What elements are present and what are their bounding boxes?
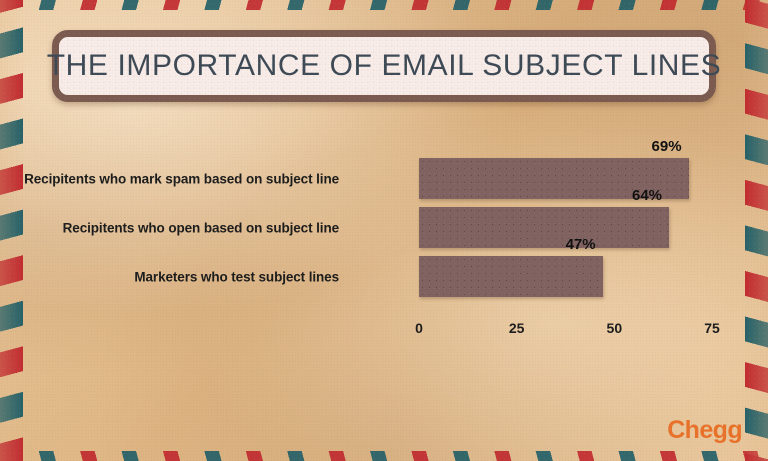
x-axis-tick: 50	[607, 320, 623, 336]
page-title: THE IMPORTANCE OF EMAIL SUBJECT LINES	[47, 49, 722, 83]
bar-value-label: 64%	[632, 187, 662, 204]
bar-category-label: Recipitents who open based on subject li…	[63, 221, 349, 236]
bar-wrapper: 47%	[419, 256, 603, 297]
airmail-stripe-bottom	[0, 451, 768, 461]
airmail-stripe-top	[0, 0, 768, 10]
x-axis-tick: 75	[704, 320, 720, 336]
x-axis: 0255075	[419, 320, 712, 342]
slide-canvas: THE IMPORTANCE OF EMAIL SUBJECT LINES Re…	[0, 0, 768, 461]
bar-rows: Recipitents who mark spam based on subje…	[0, 150, 768, 297]
x-axis-tick: 25	[509, 320, 525, 336]
bar-value-label: 47%	[566, 236, 596, 253]
bar-category-label: Marketers who test subject lines	[134, 270, 349, 285]
chegg-logo: Chegg	[667, 416, 742, 445]
bar-row: Marketers who test subject lines47%	[0, 248, 768, 297]
bar-row: Recipitents who open based on subject li…	[0, 199, 768, 248]
bar-value-label: 69%	[652, 138, 682, 155]
bar: 47%	[419, 256, 603, 297]
x-axis-tick: 0	[415, 320, 423, 336]
bar-chart: Recipitents who mark spam based on subje…	[0, 150, 768, 350]
bar-wrapper: 64%	[419, 207, 669, 248]
title-plaque: THE IMPORTANCE OF EMAIL SUBJECT LINES	[52, 30, 716, 102]
bar-category-label: Recipitents who mark spam based on subje…	[24, 172, 349, 187]
bar: 64%	[419, 207, 669, 248]
